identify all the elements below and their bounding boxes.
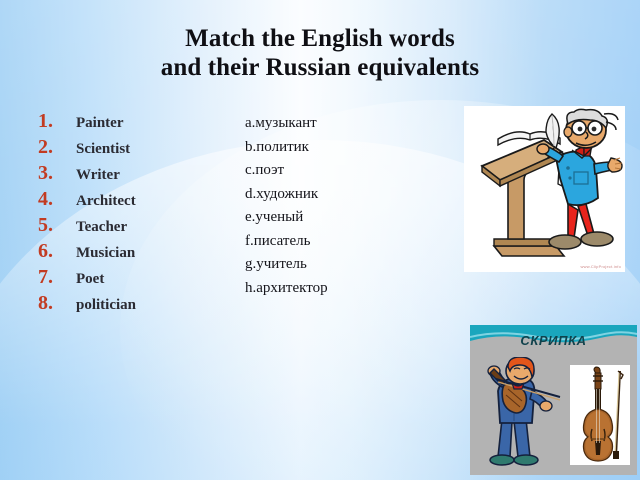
list-item-number: 8. (38, 290, 76, 316)
list-item-label: Painter (76, 110, 123, 136)
list-item-label: Architect (76, 188, 136, 214)
list-item: b.политик (245, 136, 445, 160)
list-item: e.ученый (245, 206, 445, 230)
list-item-label: Scientist (76, 136, 130, 162)
list-item: d.художник (245, 183, 445, 207)
list-item-number: 7. (38, 264, 76, 290)
list-item-number: 5. (38, 212, 76, 238)
violin-caption: СКРИПКА (470, 333, 637, 348)
title-line-2: and their Russian equivalents (60, 53, 580, 82)
list-item: h.архитектор (245, 277, 445, 301)
list-item-label: Musician (76, 240, 135, 266)
list-item: 7. Poet (38, 264, 228, 290)
list-item: f.писатель (245, 230, 445, 254)
page-title: Match the English words and their Russia… (60, 24, 580, 82)
violin-clipart-image: СКРИПКА (470, 325, 637, 475)
list-item: g.учитель (245, 253, 445, 277)
list-item-number: 3. (38, 160, 76, 186)
list-item-number: 2. (38, 134, 76, 160)
slide-canvas: Match the English words and their Russia… (0, 0, 640, 480)
violin-photo-inset (570, 365, 630, 465)
list-item-label: Writer (76, 162, 120, 188)
list-item-label: Teacher (76, 214, 127, 240)
english-words-list: 1. Painter 2. Scientist 3. Writer 4. Arc… (38, 108, 228, 316)
list-item: 1. Painter (38, 108, 228, 134)
list-item-label: politician (76, 292, 136, 318)
image-watermark: www.ClipProject.info (581, 264, 621, 269)
violinist-illustration (476, 357, 576, 472)
list-item-number: 4. (38, 186, 76, 212)
list-item: 3. Writer (38, 160, 228, 186)
list-item: 8. politician (38, 290, 228, 316)
title-line-1: Match the English words (60, 24, 580, 53)
list-item-label: Poet (76, 266, 104, 292)
list-item: c.поэт (245, 159, 445, 183)
russian-equivalents-list: a.музыкант b.политик c.поэт d.художник e… (245, 112, 445, 300)
list-item-number: 1. (38, 108, 76, 134)
list-item: 6. Musician (38, 238, 228, 264)
writer-clipart-image: www.ClipProject.info (464, 106, 625, 272)
list-item: a.музыкант (245, 112, 445, 136)
list-item: 2. Scientist (38, 134, 228, 160)
list-item-number: 6. (38, 238, 76, 264)
writer-illustration (464, 106, 625, 272)
list-item: 5. Teacher (38, 212, 228, 238)
violin-photo-illustration (570, 365, 630, 465)
list-item: 4. Architect (38, 186, 228, 212)
